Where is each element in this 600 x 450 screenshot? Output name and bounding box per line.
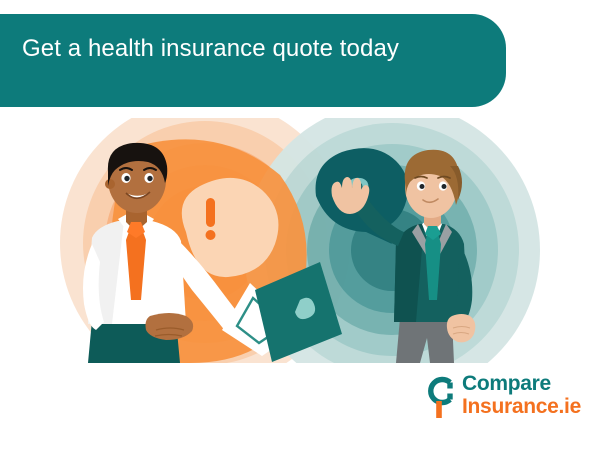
exclamation-stem — [206, 198, 215, 227]
illustration-area: ? — [0, 118, 600, 363]
brand-logo[interactable]: Compare Insurance.ie — [424, 372, 584, 424]
page-title: Get a health insurance quote today — [22, 33, 472, 65]
hero-illustration: ? — [0, 118, 600, 363]
brand-name-insurance-ie: Insurance.ie — [462, 395, 581, 418]
exclamation-dot — [206, 230, 216, 240]
brand-name-compare: Compare — [462, 372, 581, 395]
header-banner: Get a health insurance quote today — [0, 14, 506, 107]
brand-logo-text: Compare Insurance.ie — [462, 372, 581, 418]
compare-c-mark-icon — [424, 374, 458, 420]
poster-canvas: Get a health insurance quote today — [0, 0, 600, 450]
